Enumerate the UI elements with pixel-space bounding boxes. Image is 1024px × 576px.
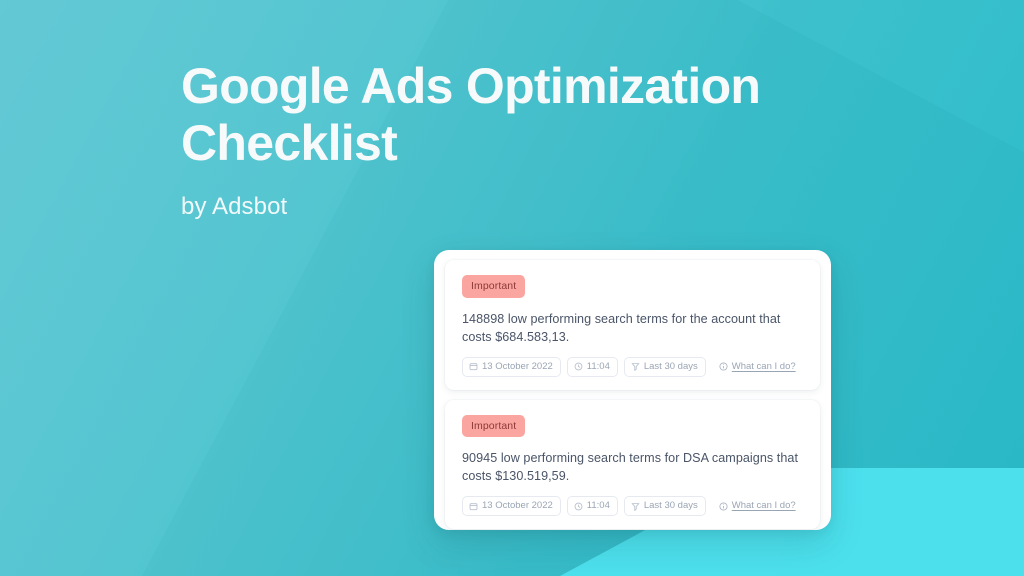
alert-card[interactable]: Important 90945 low performing search te… <box>445 400 820 530</box>
status-badge: Important <box>462 275 525 298</box>
page-title-line-2: Checklist <box>181 115 801 172</box>
alert-message: 90945 low performing search terms for DS… <box>462 449 803 485</box>
hero-heading-block: Google Ads Optimization Checklist by Ads… <box>181 58 801 221</box>
page-title-line-1: Google Ads Optimization <box>181 58 801 115</box>
clock-icon <box>574 362 583 371</box>
what-can-i-do-label: What can I do? <box>732 500 796 512</box>
page-title: Google Ads Optimization Checklist <box>181 58 801 172</box>
alert-meta-row: 13 October 2022 11:04 <box>462 496 803 516</box>
filter-icon <box>631 362 640 371</box>
date-range-chip-label: Last 30 days <box>644 361 698 373</box>
time-chip-label: 11:04 <box>587 500 610 512</box>
alert-card[interactable]: Important 148898 low performing search t… <box>445 260 820 390</box>
what-can-i-do-link[interactable]: What can I do? <box>719 361 796 373</box>
poster-canvas: Google Ads Optimization Checklist by Ads… <box>0 0 1024 576</box>
calendar-icon <box>469 502 478 511</box>
info-icon <box>719 362 728 371</box>
time-chip: 11:04 <box>567 357 618 377</box>
time-chip-label: 11:04 <box>587 361 610 373</box>
what-can-i-do-label: What can I do? <box>732 361 796 373</box>
date-range-chip: Last 30 days <box>624 496 706 516</box>
page-subtitle: by Adsbot <box>181 193 801 221</box>
date-chip: 13 October 2022 <box>462 357 561 377</box>
calendar-icon <box>469 362 478 371</box>
status-badge: Important <box>462 415 525 438</box>
date-range-chip: Last 30 days <box>624 357 706 377</box>
date-chip: 13 October 2022 <box>462 496 561 516</box>
alert-message: 148898 low performing search terms for t… <box>462 310 803 346</box>
alerts-panel: Important 148898 low performing search t… <box>434 250 831 530</box>
alert-meta-row: 13 October 2022 11:04 <box>462 357 803 377</box>
date-chip-label: 13 October 2022 <box>482 361 553 373</box>
filter-icon <box>631 502 640 511</box>
what-can-i-do-link[interactable]: What can I do? <box>719 500 796 512</box>
time-chip: 11:04 <box>567 496 618 516</box>
date-range-chip-label: Last 30 days <box>644 500 698 512</box>
info-icon <box>719 502 728 511</box>
date-chip-label: 13 October 2022 <box>482 500 553 512</box>
clock-icon <box>574 502 583 511</box>
